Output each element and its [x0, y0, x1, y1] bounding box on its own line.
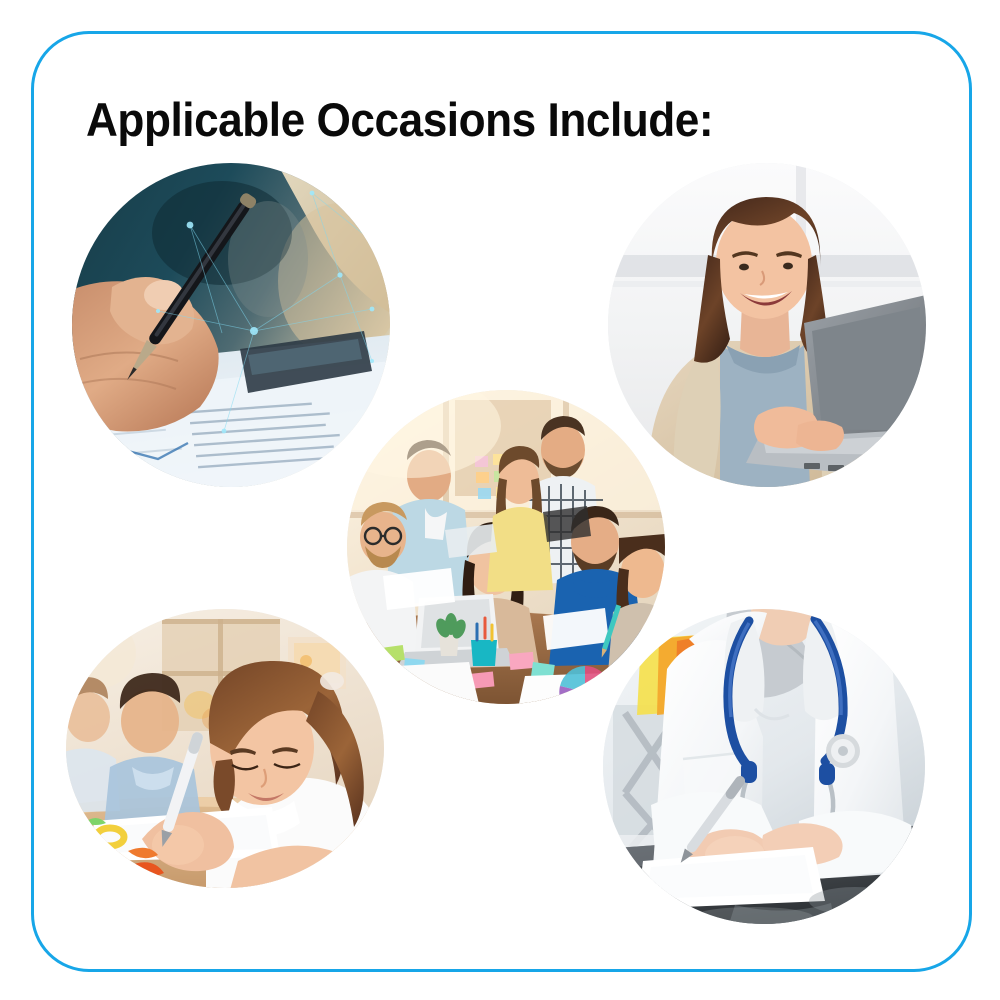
- health-care-photo: [603, 609, 925, 924]
- promo-banner: Applicable Occasions Include:: [0, 0, 1000, 1000]
- bank-photo: [72, 163, 390, 487]
- occasion-health-care: Health Care: [603, 609, 925, 924]
- page-title: Applicable Occasions Include:: [86, 92, 713, 147]
- school-photo: [66, 609, 384, 888]
- occasion-bank: Bank: [72, 163, 390, 487]
- occasion-school: School: [66, 609, 384, 888]
